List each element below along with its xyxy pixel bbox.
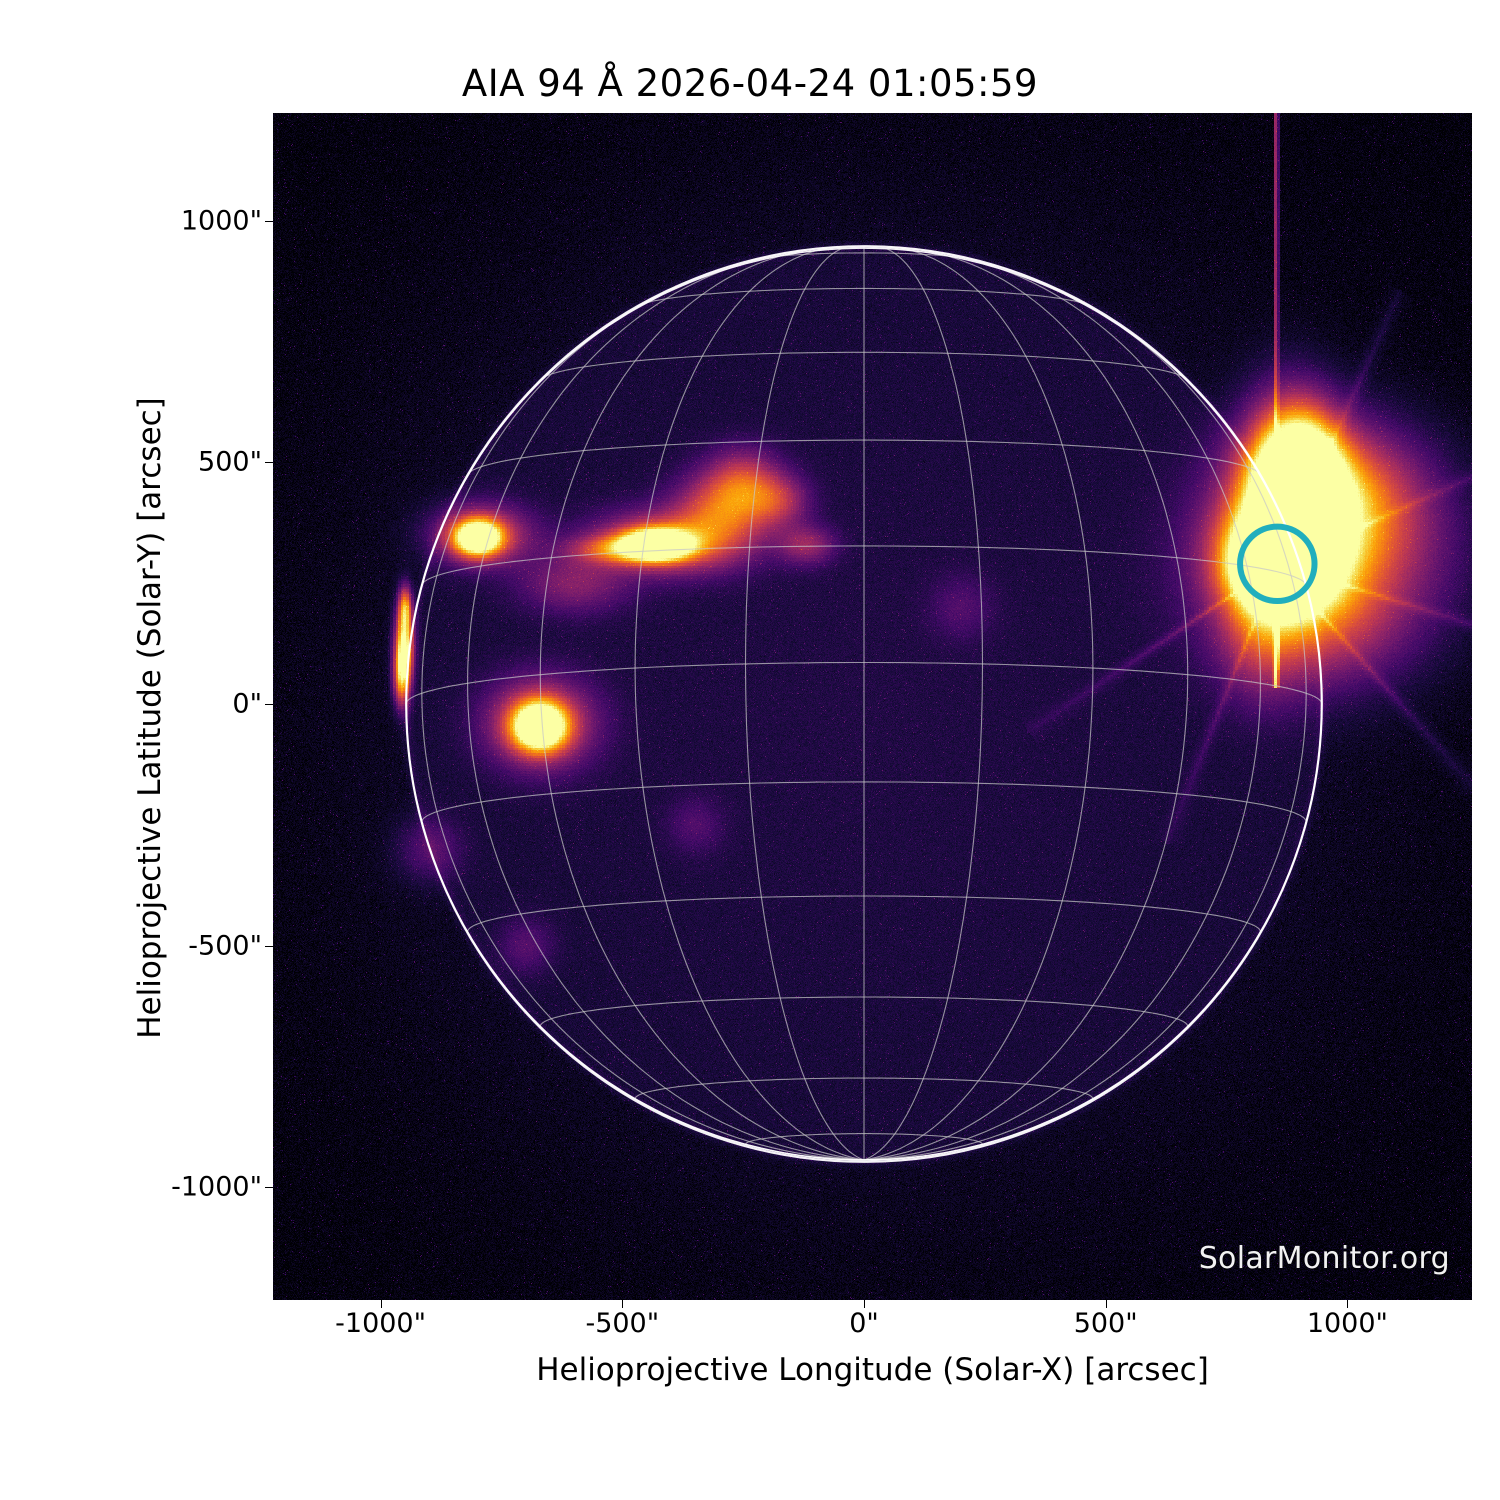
active-region-marker-0[interactable] (1240, 527, 1314, 601)
x-tick-mark (622, 1300, 623, 1308)
x-tick-label-3: 500" (1074, 1308, 1138, 1339)
watermark-label: SolarMonitor.org (1199, 1241, 1450, 1276)
solar-image-plot-area[interactable]: SolarMonitor.org (273, 113, 1472, 1300)
y-tick-mark (265, 946, 273, 947)
x-tick-mark (381, 1300, 382, 1308)
x-tick-mark (864, 1300, 865, 1308)
x-tick-mark (1347, 1300, 1348, 1308)
x-axis-label: Helioprojective Longitude (Solar-X) [arc… (273, 1352, 1472, 1388)
x-tick-mark (1106, 1300, 1107, 1308)
y-tick-mark (265, 704, 273, 705)
y-tick-mark (265, 1187, 273, 1188)
x-tick-label-0: -1000" (335, 1308, 426, 1339)
y-tick-label-4: -1000" (171, 1172, 262, 1203)
y-tick-mark (265, 221, 273, 222)
y-tick-label-0: 1000" (181, 205, 262, 236)
x-tick-label-4: 1000" (1307, 1308, 1388, 1339)
y-tick-label-3: -500" (188, 930, 262, 961)
figure-title: AIA 94 Å 2026-04-24 01:05:59 (0, 62, 1500, 105)
solar-image-figure: AIA 94 Å 2026-04-24 01:05:59 SolarMonito… (0, 0, 1500, 1500)
x-tick-label-2: 0" (849, 1308, 879, 1339)
active-region-marker-overlay[interactable] (273, 113, 1472, 1300)
y-axis-label: Helioprojective Latitude (Solar-Y) [arcs… (132, 123, 168, 1313)
y-tick-mark (265, 462, 273, 463)
y-tick-label-2: 0" (232, 689, 262, 720)
y-tick-label-1: 500" (198, 447, 262, 478)
x-tick-label-1: -500" (585, 1308, 659, 1339)
